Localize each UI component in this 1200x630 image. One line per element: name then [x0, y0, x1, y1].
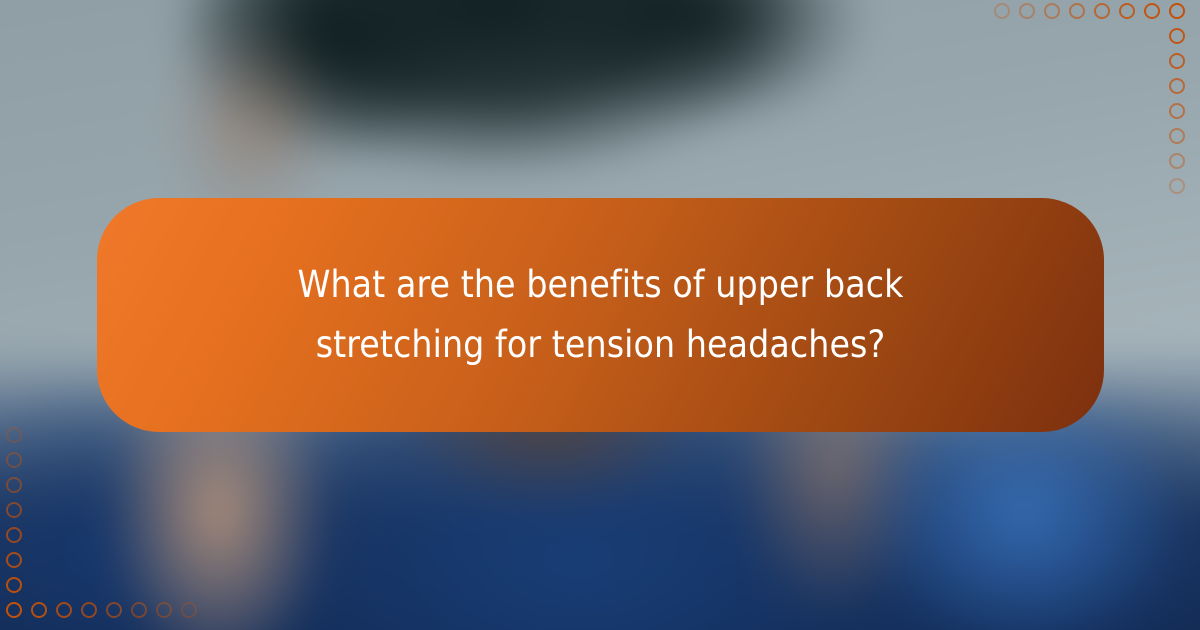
decorative-dot [56, 602, 72, 618]
decorative-dot [1169, 3, 1185, 19]
decorative-dots-top-right [980, 0, 1200, 210]
decorative-dot [1019, 3, 1035, 19]
decorative-dot [1169, 128, 1185, 144]
decorative-dot [106, 602, 122, 618]
decorative-dot [6, 602, 22, 618]
decorative-dot [6, 452, 22, 468]
slide-canvas: What are the benefits of upper back stre… [0, 0, 1200, 630]
decorative-dot [1144, 3, 1160, 19]
decorative-dot [1169, 103, 1185, 119]
decorative-dot [6, 477, 22, 493]
decorative-dot [6, 527, 22, 543]
decorative-dot [994, 3, 1010, 19]
decorative-dot [6, 502, 22, 518]
decorative-dot [1169, 178, 1185, 194]
decorative-dot [6, 552, 22, 568]
question-text: What are the benefits of upper back stre… [281, 255, 921, 375]
decorative-dot [1169, 78, 1185, 94]
decorative-dot [6, 427, 22, 443]
decorative-dots-bottom-left [0, 420, 220, 630]
decorative-dot [1169, 153, 1185, 169]
decorative-dot [81, 602, 97, 618]
decorative-dot [1069, 3, 1085, 19]
decorative-dot [6, 577, 22, 593]
decorative-dot [31, 602, 47, 618]
decorative-dot [181, 602, 197, 618]
decorative-dot [1169, 53, 1185, 69]
decorative-dot [1169, 28, 1185, 44]
decorative-dot [156, 602, 172, 618]
decorative-dot [1119, 3, 1135, 19]
decorative-dot [1044, 3, 1060, 19]
decorative-dot [1094, 3, 1110, 19]
decorative-dot [131, 602, 147, 618]
question-card: What are the benefits of upper back stre… [97, 198, 1104, 432]
